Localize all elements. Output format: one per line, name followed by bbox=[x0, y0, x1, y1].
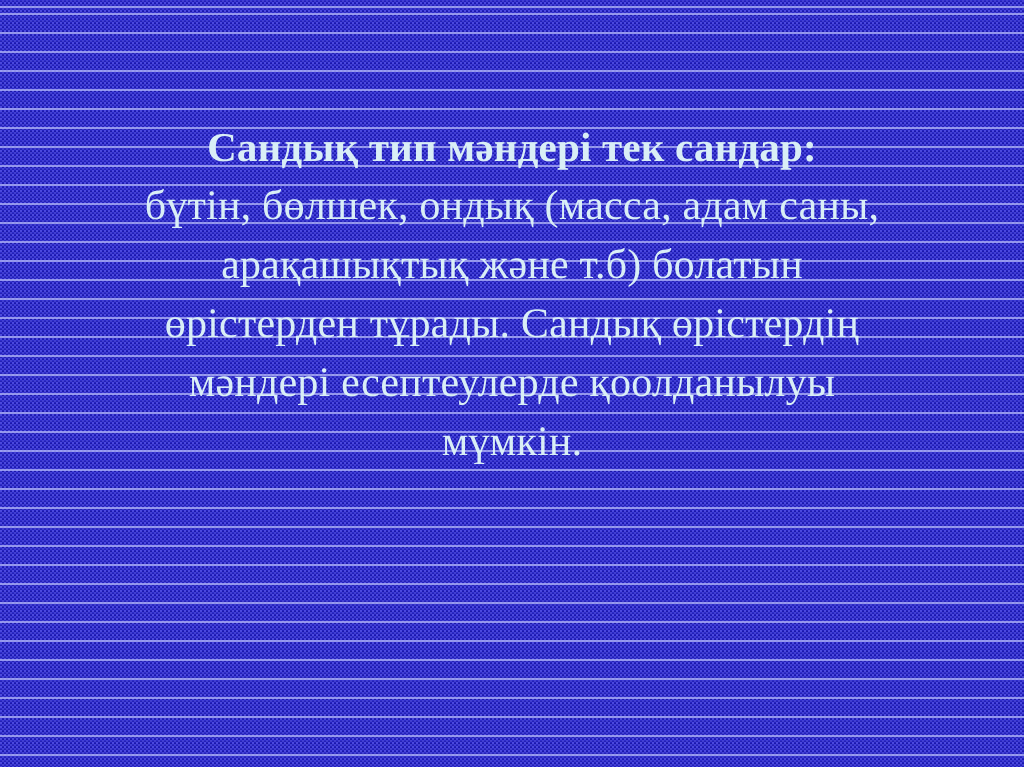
slide-body-line-4: мәндері есептеулерде қоолданылуы bbox=[0, 354, 1024, 413]
slide-body-line-2: арақашықтық және т.б) болатын bbox=[0, 236, 1024, 295]
slide-text-block: Сандық тип мәндері тек сандар: бүтін, бө… bbox=[0, 118, 1024, 472]
slide-body-line-1: бүтін, бөлшек, ондық (масса, адам саны, bbox=[0, 177, 1024, 236]
slide-body-line-3: өрістерден тұрады. Сандық өрістердің bbox=[0, 295, 1024, 354]
presentation-slide: Сандық тип мәндері тек сандар: бүтін, бө… bbox=[0, 0, 1024, 767]
slide-body-line-5: мүмкін. bbox=[0, 413, 1024, 472]
slide-heading-line: Сандық тип мәндері тек сандар: bbox=[0, 118, 1024, 177]
